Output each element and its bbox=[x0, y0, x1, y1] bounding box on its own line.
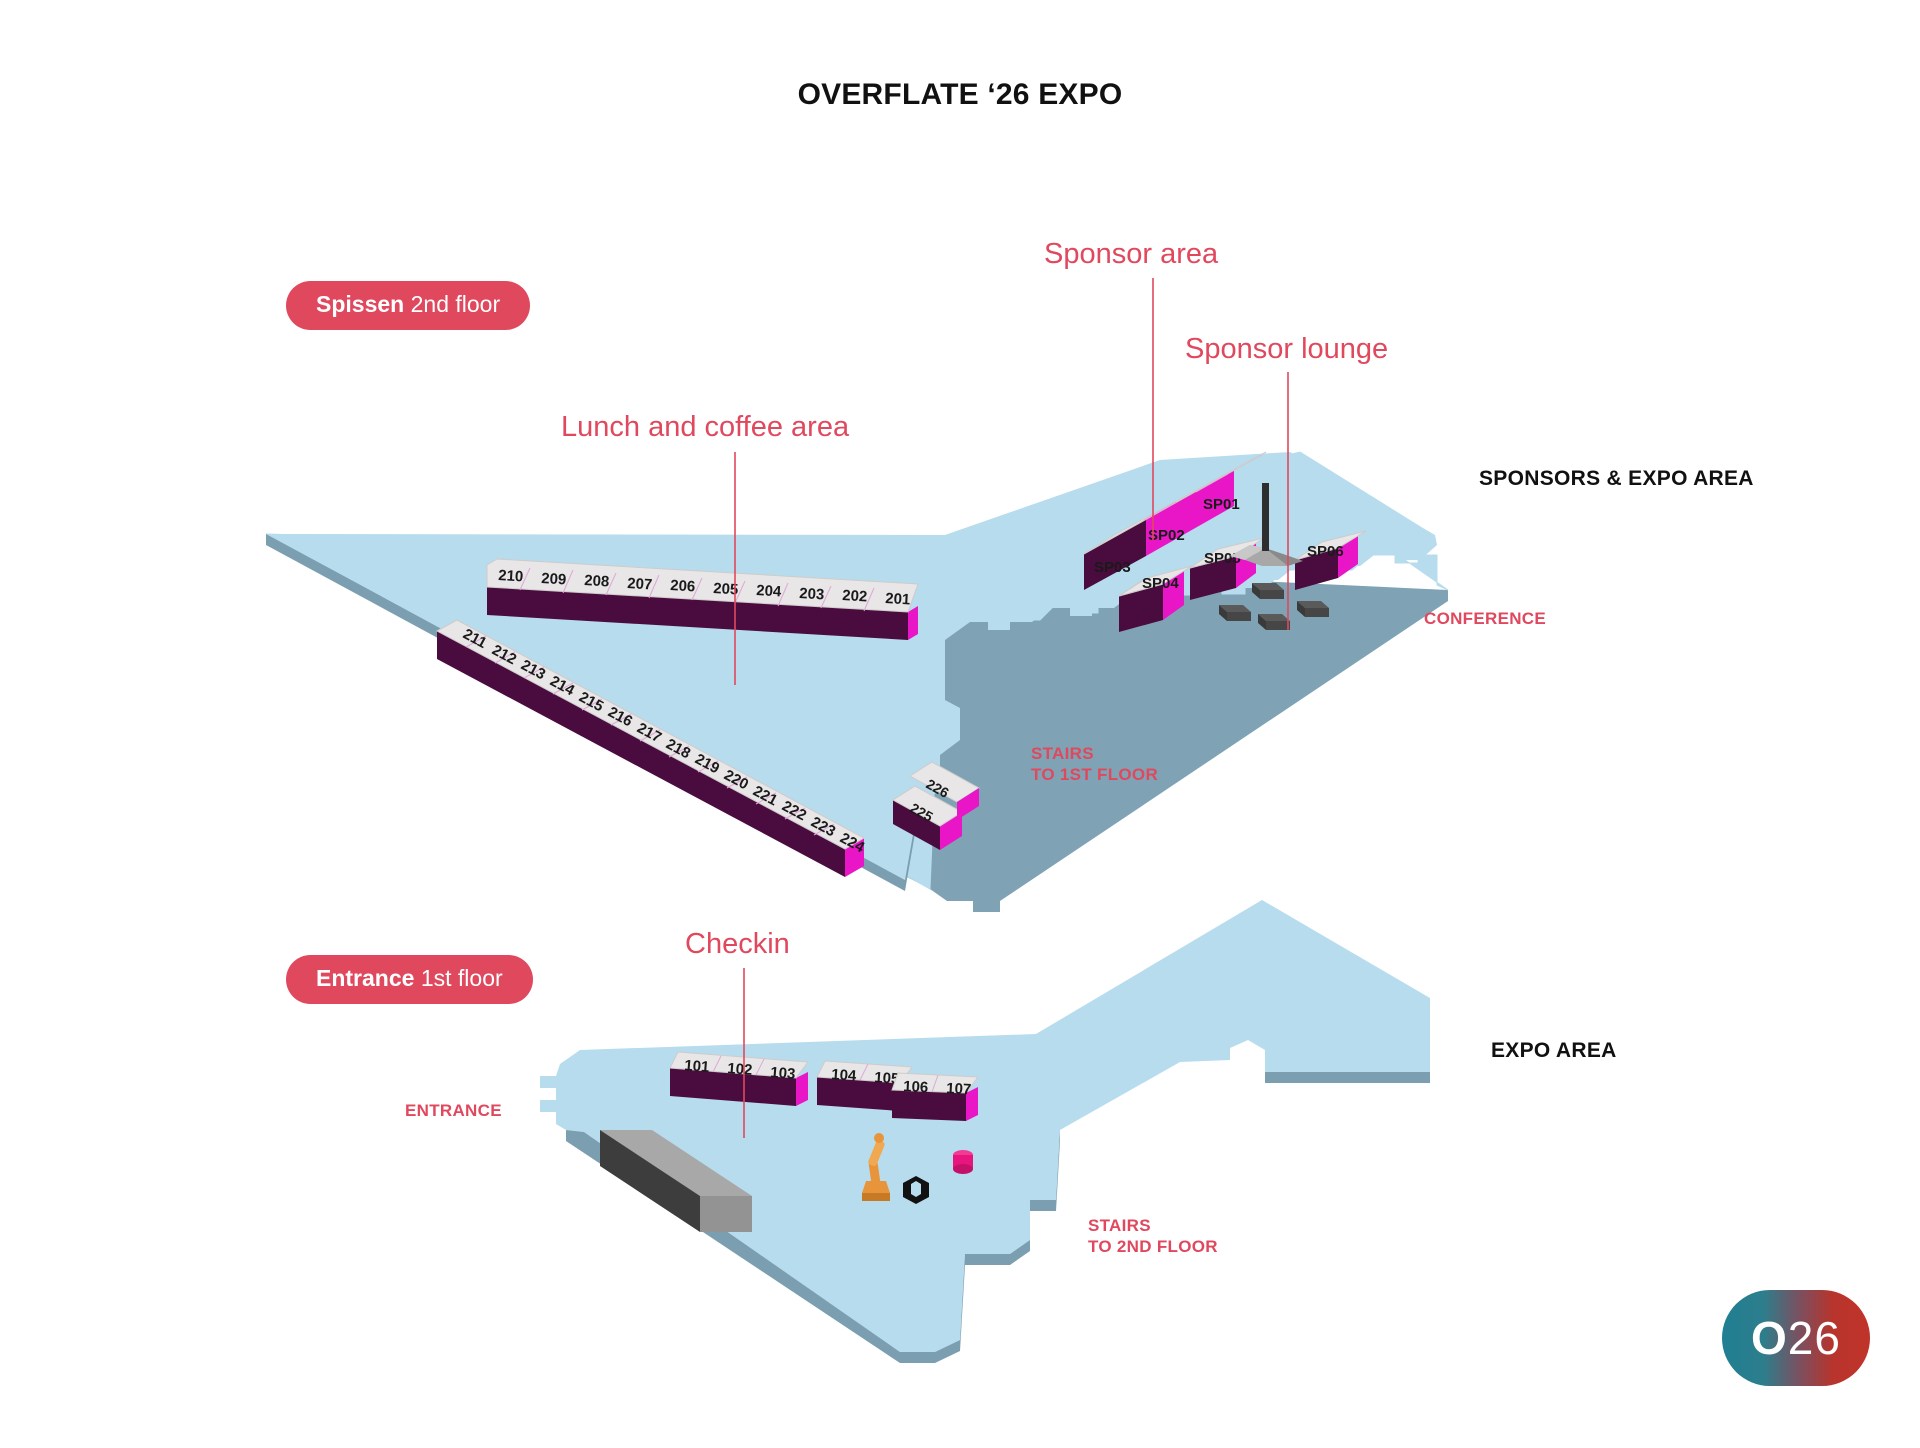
poi-label-entrance: ENTRANCE bbox=[405, 1100, 502, 1121]
booth-label: 107 bbox=[946, 1080, 972, 1098]
first-floor-group[interactable]: 101 102 103 104 105 106 107 bbox=[540, 900, 1430, 1363]
booth-label: 206 bbox=[670, 577, 696, 595]
zone-label-sponsors-expo: SPONSORS & EXPO AREA bbox=[1479, 467, 1754, 491]
expo-floorplan-map: 210 209 208 207 206 205 204 203 202 201 bbox=[0, 0, 1920, 1448]
booth-label: 208 bbox=[584, 572, 610, 590]
booth-label: 104 bbox=[831, 1066, 858, 1085]
poi-label-conference: CONFERENCE bbox=[1424, 608, 1546, 629]
booth-label: 106 bbox=[903, 1078, 929, 1096]
stairs-1st-line1: STAIRS bbox=[1031, 743, 1158, 764]
callout-sponsor-lounge: Sponsor lounge bbox=[1185, 335, 1388, 364]
stairs-2nd-line2: TO 2ND FLOOR bbox=[1088, 1236, 1218, 1257]
booth-label: 210 bbox=[498, 567, 524, 585]
floor-badge-first[interactable]: Entrance 1st floor bbox=[286, 955, 533, 1004]
checkin-desk-side bbox=[700, 1196, 752, 1232]
second-floor-group[interactable]: 210 209 208 207 206 205 204 203 202 201 bbox=[266, 278, 1448, 912]
stairs-2nd-line1: STAIRS bbox=[1088, 1215, 1218, 1236]
zone-label-expo: EXPO AREA bbox=[1491, 1039, 1617, 1063]
brand-logo-light: 26 bbox=[1788, 1312, 1841, 1364]
booth-label: 207 bbox=[627, 575, 653, 593]
booth-label: 201 bbox=[885, 590, 911, 608]
booth-label: 202 bbox=[842, 587, 868, 605]
callout-sponsor-area: Sponsor area bbox=[1044, 240, 1218, 269]
poi-label-stairs-to-1st-floor: STAIRS TO 1ST FLOOR bbox=[1031, 743, 1158, 786]
booth-label: 209 bbox=[541, 570, 567, 588]
booth-group-106-107[interactable]: 106 107 bbox=[892, 1073, 978, 1121]
booth-label: 102 bbox=[727, 1060, 753, 1079]
page-title: OVERFLATE ‘26 EXPO bbox=[0, 78, 1920, 112]
floor-badge-second[interactable]: Spissen 2nd floor bbox=[286, 281, 530, 330]
sponsor-label: SP06 bbox=[1307, 543, 1344, 560]
callout-lunch-coffee-area: Lunch and coffee area bbox=[561, 413, 849, 442]
brand-logo-text: O26 bbox=[1751, 1311, 1841, 1365]
floorplan-svg: 210 209 208 207 206 205 204 203 202 201 bbox=[0, 0, 1920, 1448]
booth-label: 103 bbox=[770, 1064, 796, 1083]
brand-logo[interactable]: O26 bbox=[1722, 1290, 1870, 1386]
poi-label-stairs-to-2nd-floor: STAIRS TO 2ND FLOOR bbox=[1088, 1215, 1218, 1258]
sponsor-label: SP04 bbox=[1142, 575, 1179, 592]
callout-checkin: Checkin bbox=[685, 930, 790, 959]
sponsor-label: SP05 bbox=[1204, 550, 1241, 567]
sponsor-label: SP01 bbox=[1203, 496, 1240, 513]
pink-cylinder-marker bbox=[953, 1150, 973, 1174]
brand-logo-bold: O bbox=[1751, 1312, 1788, 1364]
floor-badge-first-strong: Entrance bbox=[316, 965, 414, 991]
booth-label: 204 bbox=[756, 582, 783, 600]
first-floor-shape bbox=[540, 900, 1430, 1352]
stairs-1st-line2: TO 1ST FLOOR bbox=[1031, 764, 1158, 785]
booth-label: 101 bbox=[684, 1057, 710, 1076]
floor-badge-second-strong: Spissen bbox=[316, 291, 404, 317]
floor-badge-first-light: 1st floor bbox=[421, 965, 503, 991]
floor-badge-second-light: 2nd floor bbox=[411, 291, 501, 317]
first-floor-right-edge-shadow bbox=[1265, 1072, 1430, 1083]
booth-label: 203 bbox=[799, 585, 825, 603]
sponsor-label: SP03 bbox=[1094, 559, 1131, 576]
